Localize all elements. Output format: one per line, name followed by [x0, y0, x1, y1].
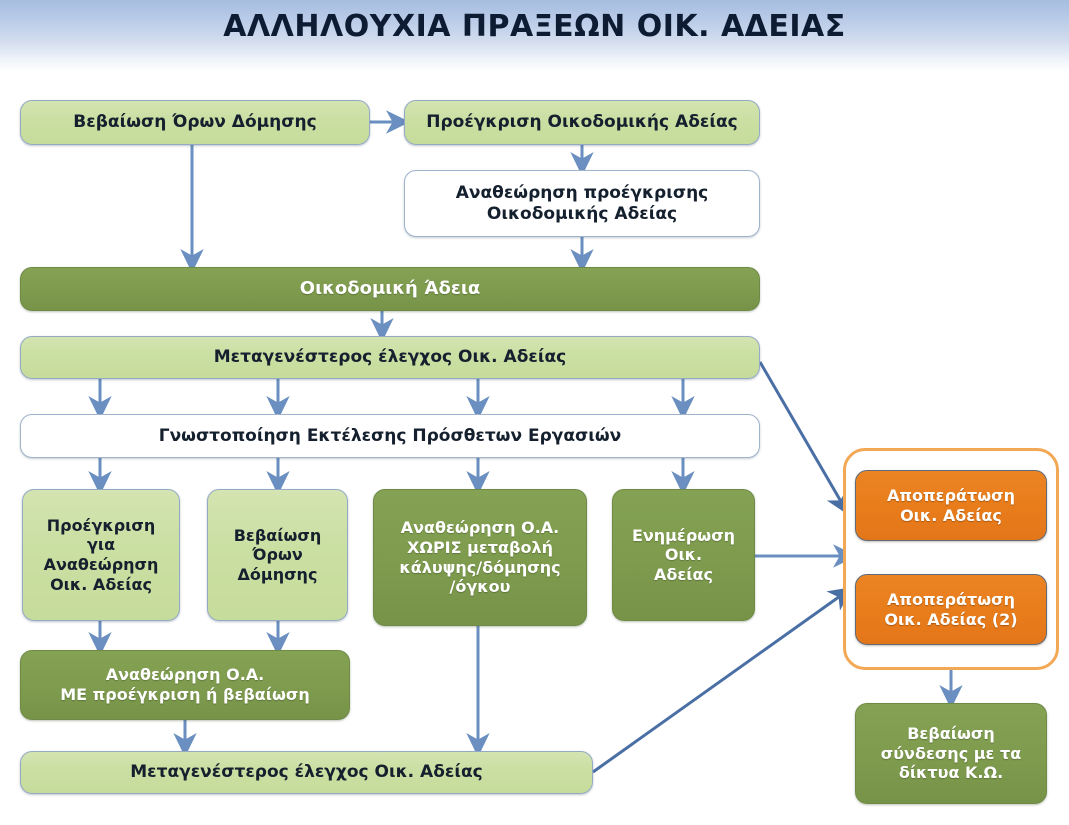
node-anatheorisi-proegrisis[interactable]: Αναθεώρηση προέγκρισης Οικοδομικής Αδεία… [404, 170, 760, 237]
node-metagenesteros-elegxos-2[interactable]: Μεταγενέστερος έλεγχος Οικ. Αδείας [20, 751, 593, 794]
node-anatheorisi-me-proegrisi[interactable]: Αναθεώρηση Ο.Α. ΜΕ προέγκριση ή βεβαίωση [20, 650, 350, 720]
node-apoperatosi-oik-adeias[interactable]: Αποπεράτωση Οικ. Αδείας [855, 470, 1047, 541]
node-proegrisi-gia-anatheorisi[interactable]: Προέγκριση για Αναθεώρηση Οικ. Αδείας [22, 489, 180, 621]
node-gnostopoiisi-ektelesis[interactable]: Γνωστοποίηση Εκτέλεσης Πρόσθετων Εργασιώ… [20, 414, 760, 458]
node-apoperatosi-oik-adeias-2[interactable]: Αποπεράτωση Οικ. Αδείας (2) [855, 574, 1047, 645]
node-bebaiosi-oron-domisis-2[interactable]: Βεβαίωση Όρων Δόμησης [207, 489, 348, 621]
node-bebaiosi-oron-domisis[interactable]: Βεβαίωση Όρων Δόμησης [20, 100, 370, 145]
node-enimerosi-oik-adeias[interactable]: Ενημέρωση Οικ. Αδείας [612, 489, 755, 621]
flowchart-canvas: ΑΛΛΗΛΟΥΧΙΑ ΠΡΑΞΕΩΝ ΟΙΚ. ΑΔΕΙΑΣ [0, 0, 1069, 825]
node-metagenesteros-elegxos-1[interactable]: Μεταγενέστερος έλεγχος Οικ. Αδείας [20, 336, 760, 379]
node-anatheorisi-xoris-metavoli[interactable]: Αναθεώρηση Ο.Α. ΧΩΡΙΣ μεταβολή κάλυψης/δ… [373, 489, 587, 626]
node-bebaiosi-syndesis-diktya[interactable]: Βεβαίωση σύνδεσης με τα δίκτυα Κ.Ω. [855, 703, 1047, 804]
edge-metagenesteros1-to-apoperatosi1 [760, 362, 843, 505]
node-oikodomiki-adeia[interactable]: Οικοδομική Άδεια [20, 267, 760, 311]
node-proegrisi-oikodomikis-adeias[interactable]: Προέγκριση Οικοδομικής Αδείας [404, 100, 760, 145]
